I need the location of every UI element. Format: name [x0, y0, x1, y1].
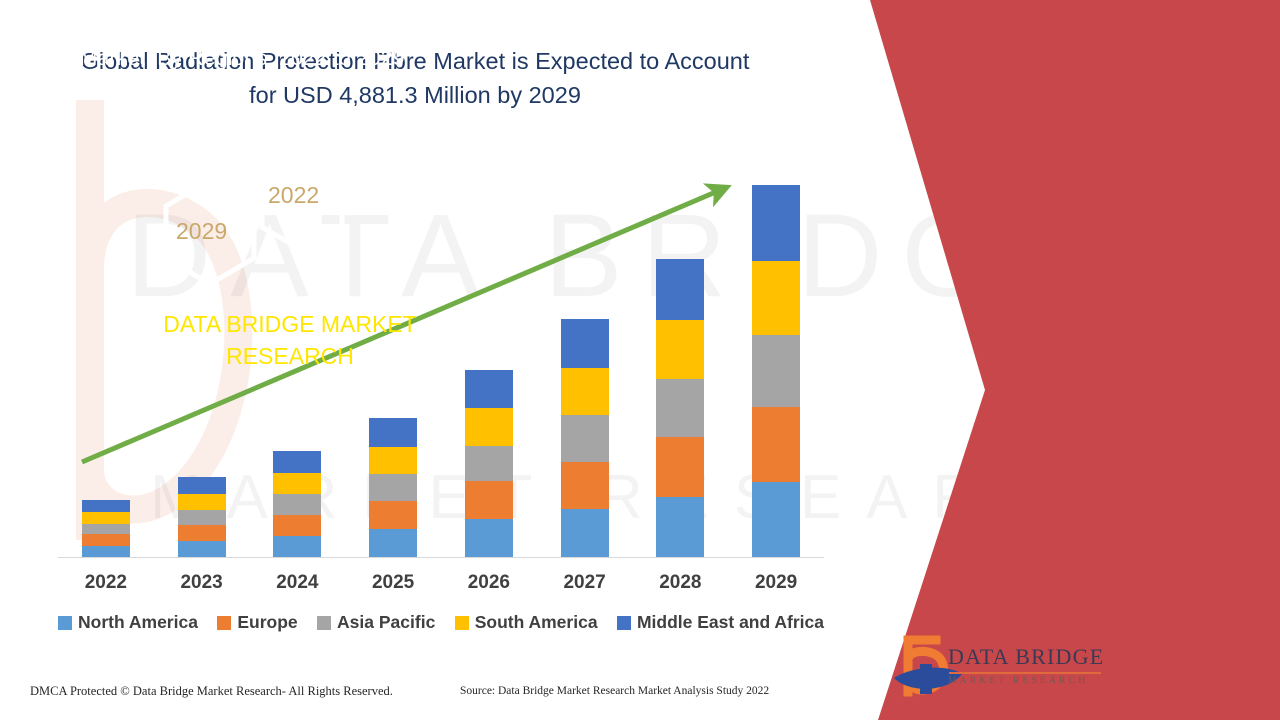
logo-main-text: DATA BRIDGE [948, 644, 1108, 670]
bar-segment[interactable] [273, 473, 321, 494]
hexagon-2029-label: 2029 [176, 218, 227, 245]
bar-segment[interactable] [178, 477, 226, 494]
bar-segment[interactable] [752, 482, 800, 558]
legend-label: Middle East and Africa [637, 612, 824, 633]
bar-segment[interactable] [465, 519, 513, 558]
bar-stack-2025[interactable] [369, 418, 417, 558]
legend-item-south-america[interactable]: South America [455, 612, 598, 633]
legend-swatch-icon [217, 616, 231, 630]
legend-label: Europe [237, 612, 297, 633]
panel-title: Global Radiation Protection Fibre Market… [62, 12, 422, 74]
legend-item-europe[interactable]: Europe [217, 612, 297, 633]
bar-stack-2026[interactable] [465, 370, 513, 558]
x-axis-label-2023: 2023 [154, 572, 250, 594]
footer-copyright: DMCA Protected © Data Bridge Market Rese… [30, 684, 393, 699]
bar-segment[interactable] [465, 481, 513, 519]
bar-segment[interactable] [465, 370, 513, 409]
bar-segment[interactable] [273, 494, 321, 515]
logo-sub-text: MARKET RESEARCH [948, 676, 1108, 686]
bar-segment[interactable] [369, 529, 417, 558]
x-axis-label-2022: 2022 [58, 572, 154, 594]
legend-swatch-icon [455, 616, 469, 630]
hexagon-2022-label: 2022 [268, 182, 319, 209]
bar-stack-2022[interactable] [82, 500, 130, 558]
x-axis-label-2027: 2027 [537, 572, 633, 594]
bar-segment[interactable] [656, 437, 704, 497]
bar-segment[interactable] [82, 534, 130, 545]
bar-segment[interactable] [178, 541, 226, 558]
legend-label: Asia Pacific [337, 612, 435, 633]
right-red-panel [840, 0, 1280, 720]
bar-segment[interactable] [752, 185, 800, 261]
bar-segment[interactable] [752, 407, 800, 482]
bar-segment[interactable] [561, 509, 609, 558]
legend-label: North America [78, 612, 198, 633]
x-axis-label-2025: 2025 [345, 572, 441, 594]
bar-segment[interactable] [465, 446, 513, 482]
bar-stack-2024[interactable] [273, 451, 321, 558]
x-axis-line [58, 557, 824, 558]
bar-segment[interactable] [465, 408, 513, 445]
legend-item-asia-pacific[interactable]: Asia Pacific [317, 612, 435, 633]
hexagon-badges: 2029 2022 [150, 150, 380, 295]
bar-segment[interactable] [561, 415, 609, 461]
legend-item-north-america[interactable]: North America [58, 612, 198, 633]
bar-segment[interactable] [369, 474, 417, 501]
bar-segment[interactable] [178, 510, 226, 525]
legend-swatch-icon [58, 616, 72, 630]
x-axis-label-2029: 2029 [728, 572, 824, 594]
bar-segment[interactable] [369, 501, 417, 529]
chart-legend: North AmericaEuropeAsia PacificSouth Ame… [58, 612, 824, 633]
logo-wordmark: DATA BRIDGE MARKET RESEARCH [948, 644, 1108, 686]
logo-divider [949, 672, 1101, 674]
legend-swatch-icon [617, 616, 631, 630]
bar-segment[interactable] [178, 525, 226, 541]
bar-segment[interactable] [656, 259, 704, 320]
bar-segment[interactable] [273, 515, 321, 536]
infographic-canvas: DATA BRIDGE MARKET RESEARCH Global Radia… [0, 0, 1280, 720]
bar-segment[interactable] [273, 451, 321, 473]
bar-segment[interactable] [273, 536, 321, 558]
legend-swatch-icon [317, 616, 331, 630]
bar-segment[interactable] [752, 261, 800, 335]
footer-source: Source: Data Bridge Market Research Mark… [460, 685, 769, 697]
bar-segment[interactable] [561, 462, 609, 510]
bar-segment[interactable] [561, 319, 609, 368]
bar-segment[interactable] [178, 494, 226, 510]
x-axis-label-2026: 2026 [441, 572, 537, 594]
bar-segment[interactable] [82, 512, 130, 523]
legend-item-middle-east-and-africa[interactable]: Middle East and Africa [617, 612, 824, 633]
legend-label: South America [475, 612, 598, 633]
x-axis-label-2028: 2028 [632, 572, 728, 594]
bar-segment[interactable] [656, 379, 704, 437]
x-axis-labels: 20222023202420252026202720282029 [58, 572, 824, 600]
bar-segment[interactable] [752, 335, 800, 407]
bar-stack-2023[interactable] [178, 477, 226, 558]
bar-segment[interactable] [82, 500, 130, 512]
x-axis-label-2024: 2024 [249, 572, 345, 594]
bar-stack-2029[interactable] [752, 185, 800, 558]
bar-stack-2027[interactable] [561, 319, 609, 558]
bar-segment[interactable] [82, 524, 130, 535]
panel-brand-name: DATA BRIDGE MARKET RESEARCH [140, 308, 440, 372]
bar-segment[interactable] [369, 447, 417, 474]
bar-segment[interactable] [369, 418, 417, 447]
bar-stack-2028[interactable] [656, 259, 704, 558]
bar-segment[interactable] [656, 497, 704, 558]
bar-segment[interactable] [561, 368, 609, 415]
bar-segment[interactable] [656, 320, 704, 379]
